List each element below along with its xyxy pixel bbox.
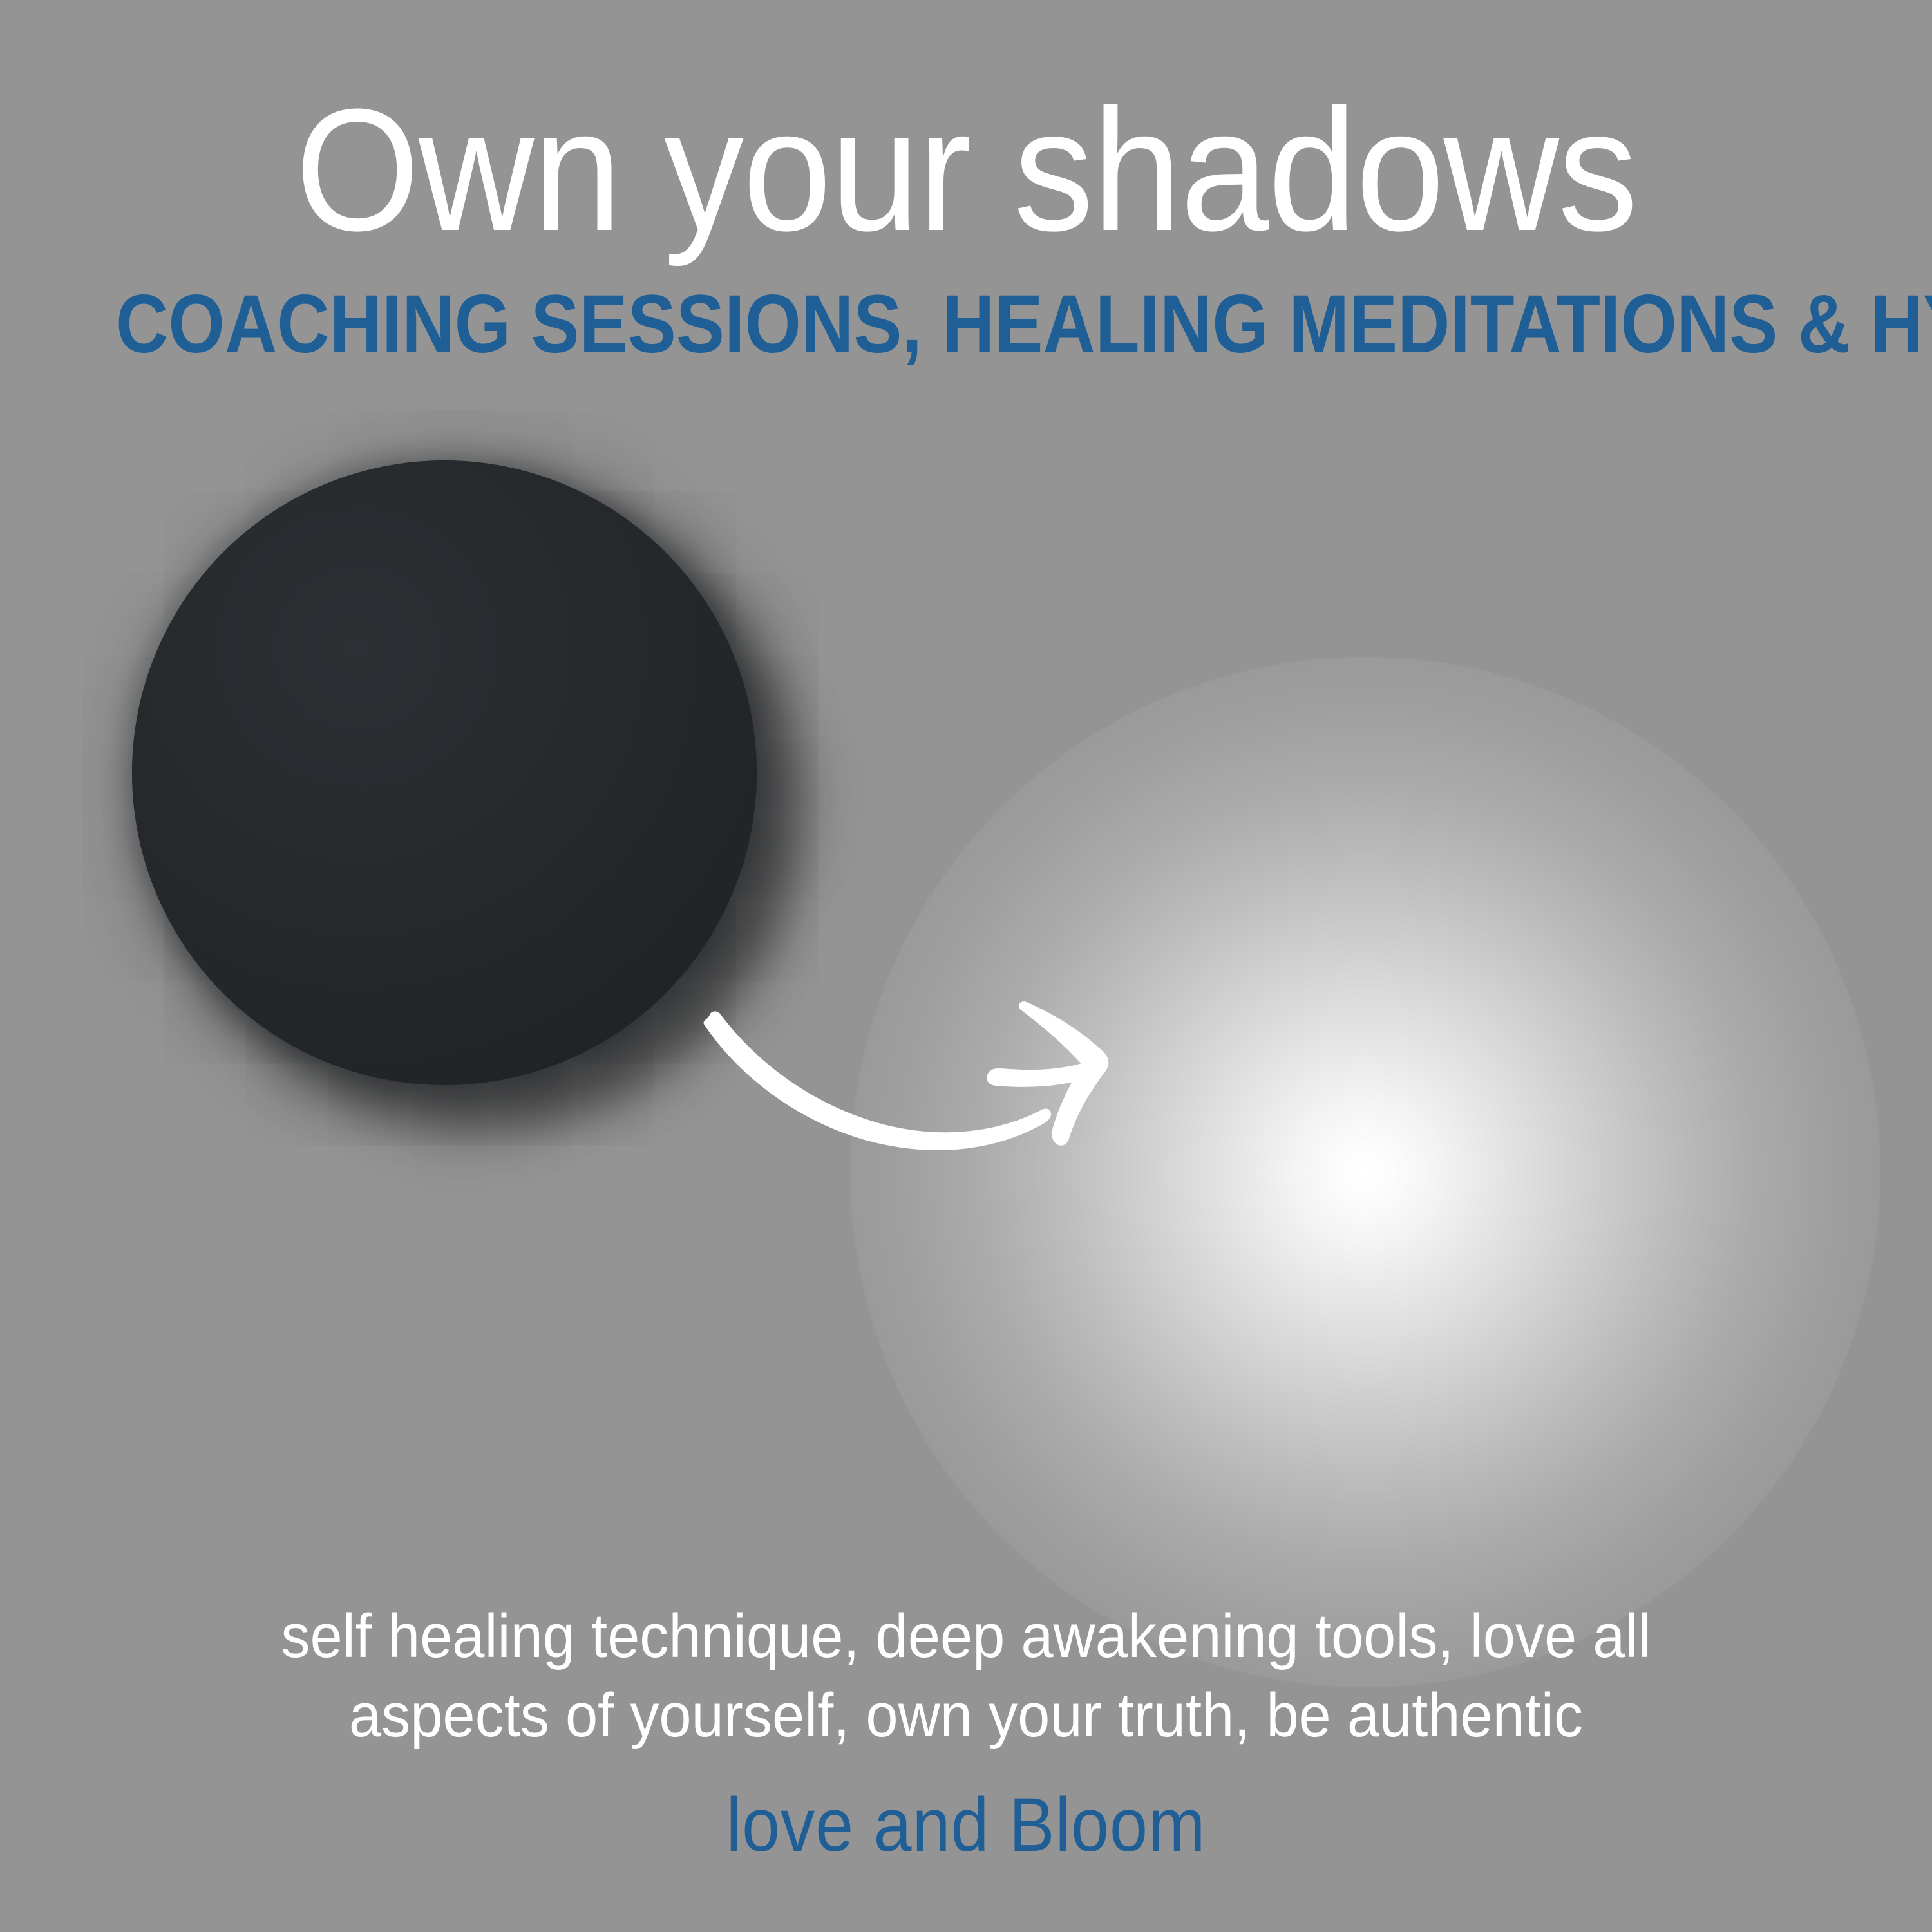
curved-arrow-icon (696, 992, 1159, 1211)
description-block: self healing technique, deep awakening t… (204, 1597, 1729, 1756)
light-glow-shape (850, 657, 1880, 1687)
description-line-2: aspects of yourself, own your truth, be … (204, 1676, 1729, 1756)
page-title: Own your shadows (77, 84, 1855, 258)
brand-name: love and Bloom (97, 1787, 1835, 1863)
audiobook-cover: Own your shadows COACHING SESSIONS, HEAL… (0, 0, 1932, 1932)
subtitle: COACHING SESSIONS, HEALING MEDITATIONS &… (116, 283, 1816, 366)
description-line-1: self healing technique, deep awakening t… (204, 1597, 1729, 1676)
dark-sphere-shape (132, 460, 757, 1085)
